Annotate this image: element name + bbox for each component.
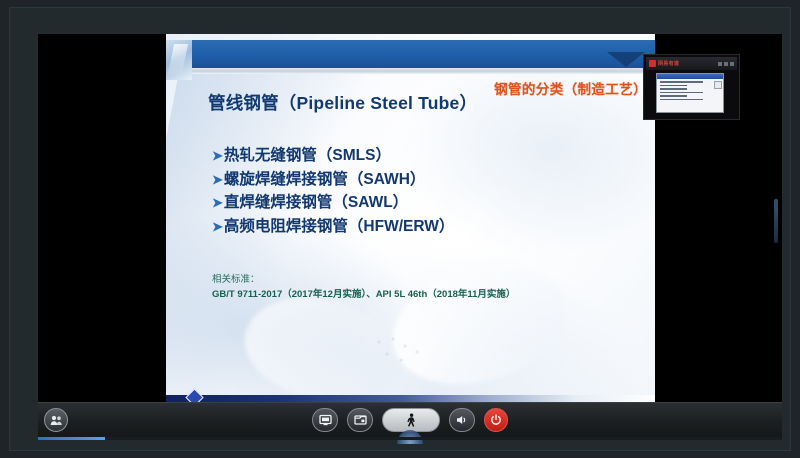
bullet-arrow-icon: ➤ (212, 170, 223, 190)
close-icon[interactable] (730, 62, 734, 66)
list-item-label: 螺旋焊缝焊接钢管（SAWH） (224, 168, 426, 192)
power-icon (490, 414, 502, 426)
text-line (660, 95, 687, 97)
end-call-button[interactable] (484, 408, 508, 432)
bullet-arrow-icon: ➤ (212, 217, 223, 237)
banner-rule (192, 68, 655, 74)
screen-share-icon (319, 414, 332, 426)
slide-corner-heading: 钢管的分类（制造工艺） (494, 78, 647, 98)
player-control-bar (38, 402, 782, 440)
video-stage[interactable]: 钢管的分类（制造工艺） 管线钢管（Pipeline Steel Tube） ➤ … (38, 34, 782, 412)
participants-icon (50, 415, 63, 426)
pip-document-preview (656, 73, 724, 113)
text-line (660, 99, 703, 101)
app-logo-icon (649, 60, 656, 67)
slide-bullet-list: ➤ 热轧无缝钢管（SMLS） ➤ 螺旋焊缝焊接钢管（SAWH） ➤ 直焊缝焊接钢… (212, 144, 632, 238)
center-control-group (312, 408, 508, 432)
whiteboard-button[interactable] (347, 408, 373, 432)
screen-share-button[interactable] (312, 408, 338, 432)
standards-label: 相关标准： (212, 272, 612, 287)
list-item: ➤ 热轧无缝钢管（SMLS） (212, 144, 632, 168)
pip-logo-label: 网易有道 (658, 60, 679, 67)
pointer-button[interactable] (382, 408, 440, 432)
text-line (660, 92, 703, 94)
shared-slide: 钢管的分类（制造工艺） 管线钢管（Pipeline Steel Tube） ➤ … (166, 34, 655, 412)
playback-progress-bar[interactable] (38, 437, 782, 440)
background-dots (371, 336, 441, 376)
playback-progress-fill (38, 437, 105, 440)
list-item-label: 高频电阻焊接钢管（HFW/ERW） (224, 215, 454, 239)
bullet-arrow-icon: ➤ (212, 193, 223, 213)
pip-window-buttons[interactable] (718, 62, 734, 66)
list-item-label: 直焊缝焊接钢管（SAWL） (224, 191, 408, 215)
whiteboard-icon (354, 414, 367, 426)
pip-document-badge (714, 81, 722, 89)
screen-share-player: 钢管的分类（制造工艺） 管线钢管（Pipeline Steel Tube） ➤ … (0, 0, 800, 458)
vertical-scrollbar[interactable] (774, 199, 778, 243)
text-line (660, 88, 687, 90)
banner-photo-accent (166, 40, 192, 80)
text-line (660, 85, 687, 87)
list-item: ➤ 直焊缝焊接钢管（SAWL） (212, 191, 632, 215)
slide-banner (192, 40, 655, 68)
background-wisp (379, 246, 579, 404)
picture-in-picture-window[interactable]: 网易有道 (643, 54, 740, 120)
maximize-icon[interactable] (724, 62, 728, 66)
bullet-arrow-icon: ➤ (212, 146, 223, 166)
slide-title: 管线钢管（Pipeline Steel Tube） (208, 90, 477, 115)
list-item-label: 热轧无缝钢管（SMLS） (224, 144, 391, 168)
minimize-icon[interactable] (718, 62, 722, 66)
list-item: ➤ 螺旋焊缝焊接钢管（SAWH） (212, 168, 632, 192)
standards-body: GB/T 9711-2017（2017年12月实施）、API 5L 46th（2… (212, 287, 612, 302)
standards-note: 相关标准： GB/T 9711-2017（2017年12月实施）、API 5L … (212, 272, 612, 303)
pointer-person-icon (404, 413, 419, 428)
player-window-frame: 钢管的分类（制造工艺） 管线钢管（Pipeline Steel Tube） ➤ … (9, 7, 791, 451)
participants-button[interactable] (44, 408, 68, 432)
list-item: ➤ 高频电阻焊接钢管（HFW/ERW） (212, 215, 632, 239)
banner-triangle-icon (607, 52, 645, 67)
speaker-icon (455, 414, 469, 426)
speaker-button[interactable] (449, 408, 475, 432)
text-line (660, 81, 703, 83)
pip-title-bar: 网易有道 (646, 57, 737, 70)
